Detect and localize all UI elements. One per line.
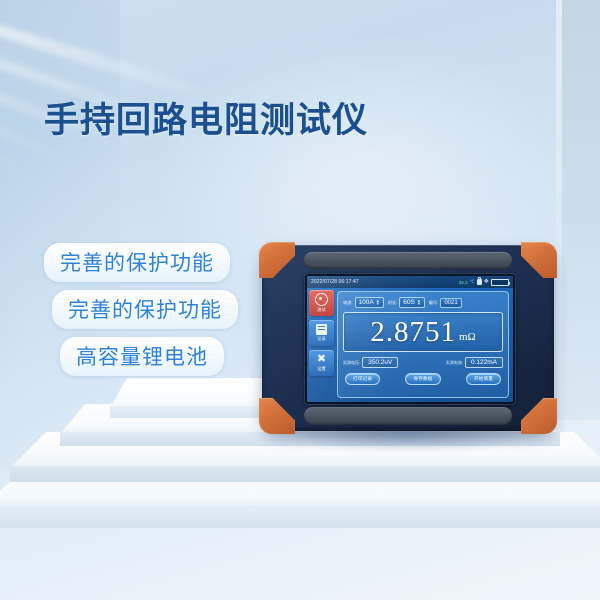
screen-sidebar: 测试 记录 ✖ 设置: [309, 290, 334, 376]
measurement-panel: 电流: 100A ▲▼ 时长: 60S: [337, 291, 509, 398]
bluetooth-icon: ❖: [484, 279, 489, 285]
rubber-grip-bottom: [304, 407, 512, 425]
lock-icon: [477, 279, 482, 285]
stepper-arrows-icon[interactable]: ▲▼: [417, 300, 421, 305]
status-icon-group: 25.3 ℃ ❖: [459, 279, 509, 286]
parameter-row: 电流: 100A ▲▼ 时长: 60S: [343, 297, 503, 308]
screen-bezel: 2022/07/28 06:17:47 25.3 ℃ ❖: [304, 273, 516, 405]
rubber-grip-top: [304, 252, 512, 269]
temperature-value: 25.3: [459, 280, 468, 285]
duration-select[interactable]: 60S ▲▼: [399, 297, 425, 308]
product-marketing-scene: 手持回路电阻测试仪 完善的保护功能 完善的保护功能 高容量锂电池 2022/07…: [0, 0, 600, 600]
stepper-arrows-icon[interactable]: ▲▼: [376, 300, 380, 305]
save-data-button[interactable]: 保存数据: [405, 373, 440, 385]
resistance-value: 2.8751: [370, 318, 456, 347]
parameter-current: 电流: 100A ▲▼: [343, 297, 384, 308]
current-value: 100A: [359, 299, 374, 306]
record-number-value: 0021: [444, 300, 457, 306]
sidebar-item-label: 设置: [317, 366, 326, 372]
parameter-label: 时长:: [388, 300, 398, 306]
status-bar: 2022/07/28 06:17:47 25.3 ℃ ❖: [307, 276, 513, 288]
record-document-icon: [316, 324, 327, 335]
lcd-screen[interactable]: 2022/07/28 06:17:47 25.3 ℃ ❖: [307, 276, 513, 402]
parameter-label: 编号:: [429, 300, 439, 306]
feature-tag: 完善的保护功能: [44, 243, 230, 282]
sidebar-item-settings[interactable]: ✖ 设置: [309, 350, 334, 376]
sidebar-item-record[interactable]: 记录: [309, 320, 334, 346]
current-select[interactable]: 100A ▲▼: [355, 297, 384, 308]
record-number-field[interactable]: 0021: [440, 298, 461, 308]
parameter-duration: 时长: 60S ▲▼: [388, 297, 425, 308]
feature-tag: 高容量锂电池: [60, 337, 224, 376]
secondary-label: 实测电流:: [446, 360, 463, 366]
feature-tag: 完善的保护功能: [52, 290, 238, 329]
measured-voltage: 实测电压: 350.2uV: [343, 357, 398, 368]
feature-tag-list: 完善的保护功能 完善的保护功能 高容量锂电池: [44, 243, 238, 376]
settings-wrench-icon: ✖: [316, 354, 327, 365]
test-target-icon: [315, 293, 328, 306]
status-datetime: 2022/07/28 06:17:47: [311, 279, 359, 285]
voltage-value: 350.2uV: [362, 357, 398, 368]
action-button-row: 打印记录 保存数据 开始测量: [343, 373, 503, 385]
handheld-loop-resistance-tester: 2022/07/28 06:17:47 25.3 ℃ ❖: [262, 245, 554, 441]
start-measure-button[interactable]: 开始测量: [466, 373, 501, 385]
primary-reading-display: 2.8751 mΩ: [343, 312, 503, 352]
page-title: 手持回路电阻测试仪: [44, 92, 368, 143]
resistance-unit: mΩ: [459, 321, 476, 343]
parameter-number: 编号: 0021: [429, 298, 462, 308]
battery-full-icon: [491, 279, 509, 286]
temperature-unit: ℃: [470, 279, 475, 285]
duration-value: 60S: [403, 299, 415, 306]
sidebar-item-test[interactable]: 测试: [309, 290, 334, 316]
platform-front: [0, 506, 600, 528]
sidebar-item-label: 测试: [317, 307, 326, 313]
parameter-label: 电流:: [343, 300, 353, 306]
sidebar-item-label: 记录: [317, 336, 326, 342]
secondary-label: 实测电压:: [343, 360, 360, 366]
secondary-reading-row: 实测电压: 350.2uV 实测电流: 0.122mA: [343, 357, 503, 368]
measured-current: 实测电流: 0.122mA: [446, 357, 503, 368]
platform-front: [10, 466, 600, 482]
print-record-button[interactable]: 打印记录: [345, 373, 380, 385]
current-value-readout: 0.122mA: [465, 357, 503, 368]
